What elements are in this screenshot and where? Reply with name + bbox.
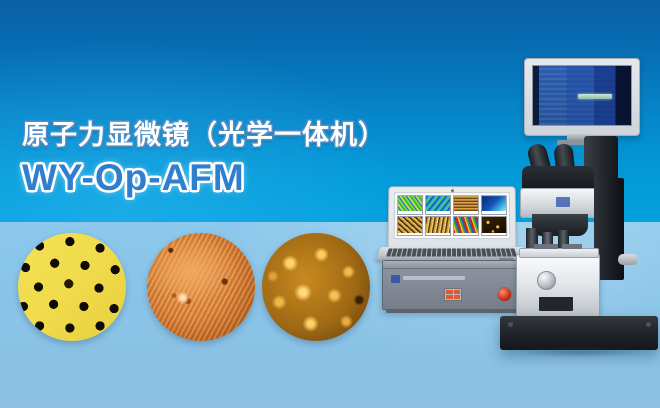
scan-thumbnail	[453, 195, 479, 215]
controller-brand-text	[403, 276, 465, 280]
scan-thumbnail	[425, 216, 451, 236]
brand-logo-icon	[556, 197, 570, 207]
sample-gold-grain-surface	[262, 233, 370, 341]
controller-port-panel	[444, 288, 462, 301]
base-shadow	[492, 344, 660, 360]
scanner-adjust-knob	[537, 271, 556, 290]
cantilever-probe-icon	[578, 94, 612, 99]
focus-knob	[618, 254, 638, 265]
monitor-screen	[532, 65, 632, 126]
microscope-monitor	[524, 58, 640, 136]
sample-copper-topography	[147, 233, 255, 341]
scan-thumbnail	[453, 216, 479, 236]
scan-thumbnail	[397, 195, 423, 215]
headline-chinese: 原子力显微镜（光学一体机）	[22, 118, 386, 152]
scanner-slot	[562, 244, 582, 249]
model-name: WY-Op-AFM	[22, 156, 386, 200]
laptop-screen	[394, 192, 511, 239]
scanner-label-plate	[539, 297, 573, 311]
sample-calibration-grating	[18, 233, 126, 341]
scanner-top-plate	[519, 248, 599, 258]
scan-thumbnail	[397, 216, 424, 236]
microscope-unit	[498, 58, 660, 350]
headline-block: 原子力显微镜（光学一体机） WY-Op-AFM	[22, 118, 386, 200]
scanner-slot	[534, 244, 558, 249]
afm-scanner-head	[516, 254, 600, 318]
product-banner: 原子力显微镜（光学一体机） WY-Op-AFM	[0, 0, 660, 408]
scan-thumbnail	[425, 195, 451, 215]
brand-logo-icon	[391, 275, 400, 283]
